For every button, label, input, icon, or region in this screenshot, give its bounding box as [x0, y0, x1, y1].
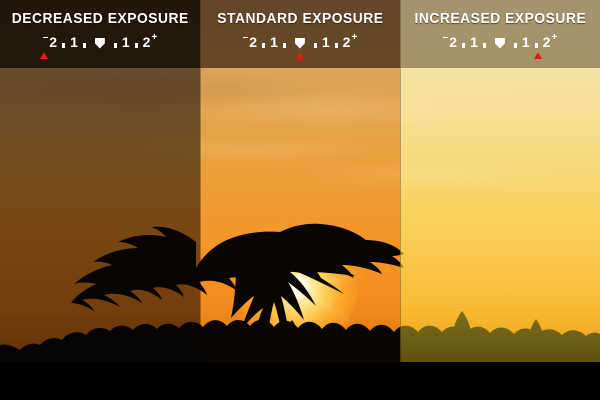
- plus-sign-icon: +: [551, 33, 557, 43]
- scale-value-plus-2: 2: [543, 35, 551, 49]
- scale-tick-icon: [262, 43, 265, 48]
- scale-tick-icon: [135, 43, 138, 48]
- scale-tick-icon: [314, 43, 317, 48]
- minus-sign-icon: –: [243, 33, 249, 43]
- scale-value-plus-1: 1: [122, 35, 130, 49]
- panel-header-decreased: DECREASED EXPOSURE – 2 1 1 2 +: [0, 0, 200, 68]
- scale-value-plus-1: 1: [322, 35, 330, 49]
- exposure-indicator-decreased: [40, 52, 48, 59]
- panel-title-decreased: DECREASED EXPOSURE: [11, 11, 188, 27]
- scale-value-minus-2: 2: [249, 35, 257, 49]
- scale-tick-icon: [62, 43, 65, 48]
- metering-center-mark-icon: [295, 38, 305, 49]
- scale-tick-icon: [83, 43, 86, 48]
- scale-value-minus-1: 1: [470, 35, 478, 49]
- scale-tick-icon: [483, 43, 486, 48]
- metering-center-mark-icon: [95, 38, 105, 49]
- scale-value-plus-2: 2: [343, 35, 351, 49]
- metering-center-mark-icon: [495, 38, 505, 49]
- exposure-scale-decreased: – 2 1 1 2 +: [43, 34, 158, 50]
- panel-header-standard: STANDARD EXPOSURE – 2 1 1 2 +: [200, 0, 400, 68]
- exposure-comparison-figure: DECREASED EXPOSURE – 2 1 1 2 + STANDARD …: [0, 0, 600, 400]
- scale-tick-icon: [535, 43, 538, 48]
- scale-tick-icon: [335, 43, 338, 48]
- scale-tick-icon: [514, 43, 517, 48]
- scale-tick-icon: [462, 43, 465, 48]
- exposure-indicator-increased: [534, 52, 542, 59]
- minus-sign-icon: –: [443, 33, 449, 43]
- scale-value-minus-2: 2: [449, 35, 457, 49]
- minus-sign-icon: –: [43, 33, 49, 43]
- header-bar: DECREASED EXPOSURE – 2 1 1 2 + STANDARD …: [0, 0, 600, 68]
- scale-value-minus-2: 2: [49, 35, 57, 49]
- scale-value-plus-2: 2: [143, 35, 151, 49]
- panel-title-standard: STANDARD EXPOSURE: [217, 11, 383, 27]
- scale-value-minus-1: 1: [270, 35, 278, 49]
- scale-tick-icon: [283, 43, 286, 48]
- plus-sign-icon: +: [151, 33, 157, 43]
- exposure-scale-increased: – 2 1 1 2 +: [443, 34, 558, 50]
- scale-value-plus-1: 1: [522, 35, 530, 49]
- exposure-scale-standard: – 2 1 1 2 +: [243, 34, 358, 50]
- exposure-indicator-standard: [296, 52, 304, 59]
- panel-header-increased: INCREASED EXPOSURE – 2 1 1 2 +: [400, 0, 600, 68]
- scale-tick-icon: [114, 43, 117, 48]
- foreground-ground-band: [0, 362, 600, 400]
- plus-sign-icon: +: [351, 33, 357, 43]
- panel-title-increased: INCREASED EXPOSURE: [414, 11, 586, 27]
- scale-value-minus-1: 1: [70, 35, 78, 49]
